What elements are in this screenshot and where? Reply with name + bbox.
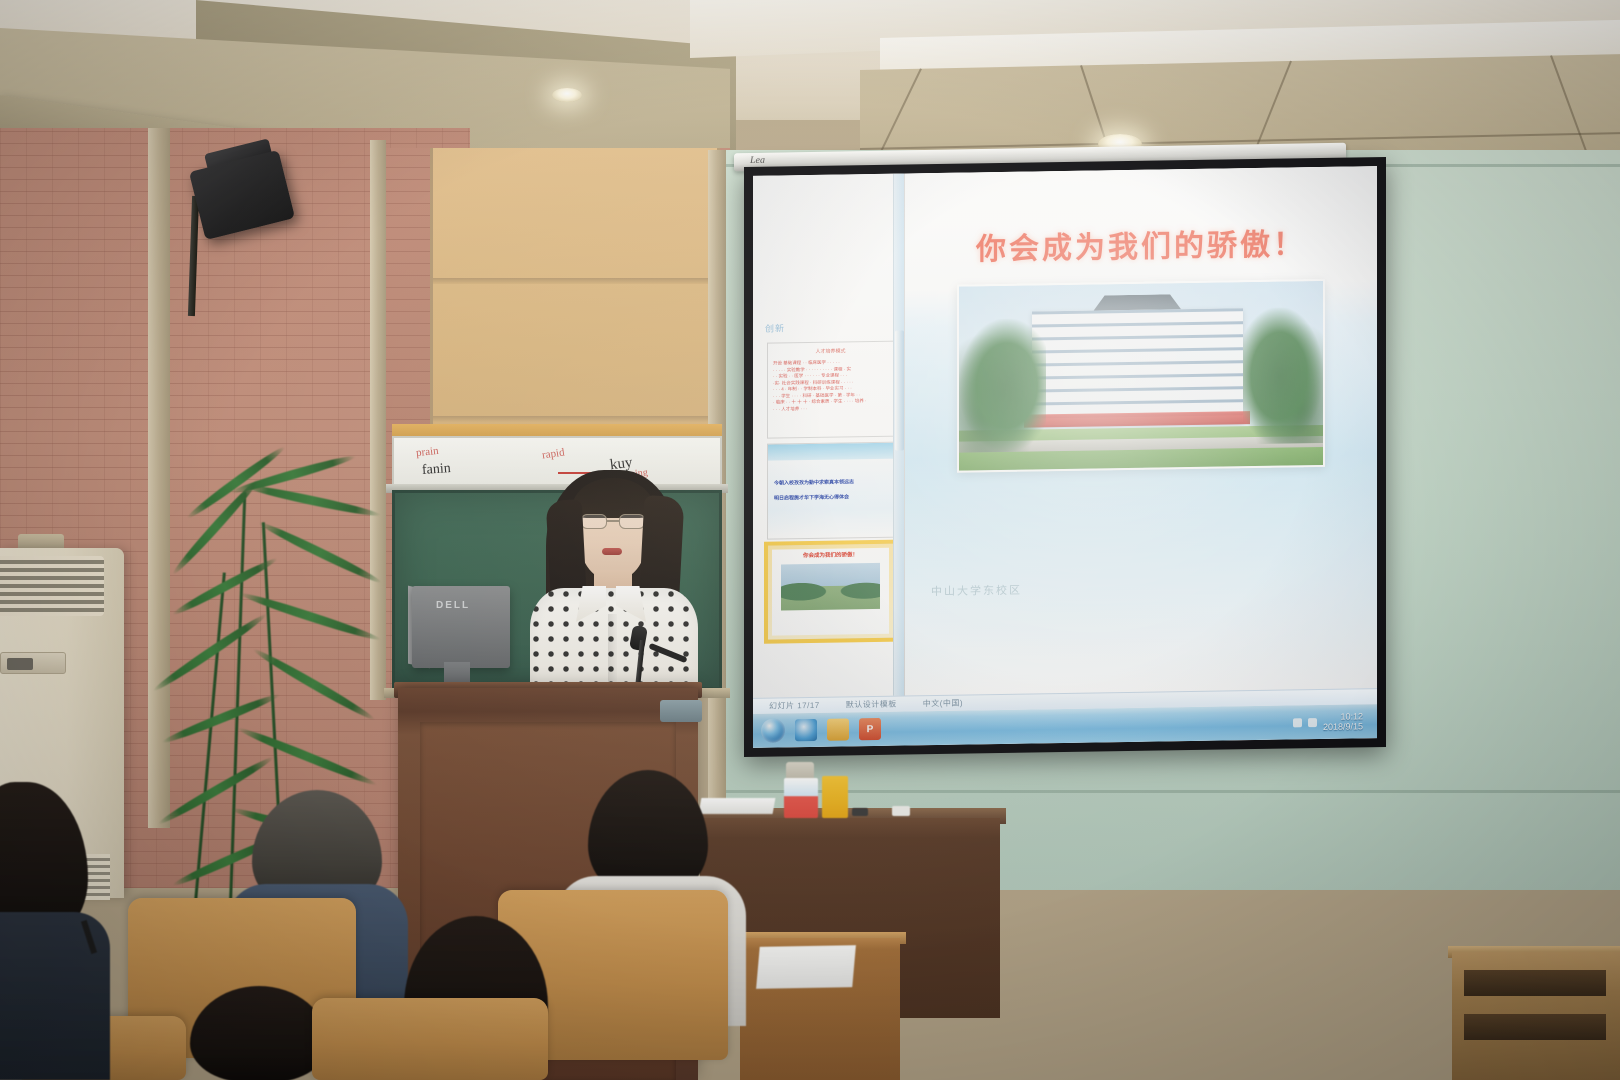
podium-side-shelf: [660, 700, 702, 722]
presenter: [524, 466, 700, 716]
whiteboard-note: rapid: [541, 446, 565, 461]
thumbnail-line: · · · 人才培养 · · ·: [773, 405, 888, 413]
folder-icon[interactable]: [827, 718, 849, 740]
auditorium-chair[interactable]: [312, 998, 548, 1080]
thumbnail-photo: [781, 563, 879, 611]
network-icon[interactable]: [1293, 718, 1302, 727]
current-slide: 你会成为我们的骄傲！: [905, 166, 1377, 695]
scrollbar-thumb[interactable]: [895, 330, 904, 450]
eraser-icon: [892, 806, 910, 816]
thumbnail-line: 明日启程施才华下学海无心得体会: [774, 493, 887, 502]
photo-building: [1032, 308, 1243, 425]
dell-monitor: DELL: [412, 586, 510, 668]
papers-on-table: [699, 798, 776, 814]
slide-stage: 你会成为我们的骄傲！: [905, 166, 1377, 695]
volume-icon[interactable]: [1308, 718, 1317, 727]
screen-brand-label: Lea: [750, 155, 765, 166]
system-tray[interactable]: 10:12 2018/9/15: [1293, 711, 1369, 733]
ceiling-light-3: [552, 88, 582, 102]
slide-counter: 幻灯片 17/17: [769, 700, 820, 712]
powerpoint-icon[interactable]: P: [859, 718, 881, 740]
taskbar-clock[interactable]: 10:12 2018/9/15: [1323, 711, 1363, 732]
thumbnail-header-band: [768, 443, 893, 461]
ac-control-panel[interactable]: [0, 652, 66, 674]
language-label: 中文(中国): [923, 698, 963, 710]
presenter-lips: [602, 548, 622, 555]
slide-title: 你会成为我们的骄傲！: [976, 219, 1306, 268]
tissue-box-icon: [784, 778, 818, 818]
audience-torso: [0, 912, 110, 1080]
monitor-brand-label: DELL: [436, 600, 470, 611]
whiteboard-note: prain: [415, 445, 439, 459]
clock-date: 2018/9/15: [1323, 721, 1363, 732]
powerpoint-window: 创新 人才培养模式 开设 基础课程 · · 临床医学 · · · · · · ·…: [753, 166, 1377, 748]
ac-upper-grille: [0, 556, 104, 616]
right-cabinet: [1452, 952, 1620, 1080]
ac-display: [7, 658, 33, 670]
lecture-hall-photo: Lea 创新 人才培养模式 开设 基础课程 · · 临床医学 · · · · ·…: [0, 0, 1620, 1080]
projection-screen: 创新 人才培养模式 开设 基础课程 · · 临床医学 · · · · · · ·…: [744, 157, 1386, 757]
whiteboard-note: fanin: [421, 461, 451, 479]
thumbnail-panel-header: 创新: [753, 174, 904, 339]
thumbnail-scrollbar[interactable]: [893, 174, 904, 696]
list-item[interactable]: 今朝入校孜孜为勤中求索真本领远志 明日启程施才华下学海无心得体会: [767, 442, 894, 540]
thumbnail-title: 你会成为我们的骄傲！: [772, 552, 889, 562]
slide-thumbnail-panel[interactable]: 创新 人才培养模式 开设 基础课程 · · 临床医学 · · · · · · ·…: [753, 174, 905, 698]
photo-tree-right: [1243, 307, 1323, 444]
glasses-icon: [580, 514, 646, 529]
thumbnail-line: 今朝入校孜孜为勤中求索真本领远志: [774, 479, 887, 488]
slide-footer: 中山大学东校区: [931, 582, 1022, 599]
cabinet-slot: [1464, 970, 1606, 996]
start-orb-icon[interactable]: [761, 718, 785, 742]
internet-explorer-icon[interactable]: [795, 719, 817, 741]
snack-box-icon: [822, 776, 848, 818]
list-item-selected[interactable]: 你会成为我们的骄傲！: [767, 543, 894, 641]
water-bottle: [1399, 910, 1424, 996]
remote-control-icon: [852, 808, 868, 816]
clock-time: 10:12: [1323, 711, 1363, 722]
slide-photo-building: [957, 279, 1325, 473]
thumbnail-title: 人才培养模式: [773, 348, 888, 357]
list-item[interactable]: 人才培养模式 开设 基础课程 · · 临床医学 · · · · · · · · …: [767, 341, 894, 439]
photo-tree-left: [959, 318, 1046, 452]
cabinet-slot: [1464, 1014, 1606, 1040]
desk-items: [780, 770, 890, 818]
design-template-label: 默认设计模板: [846, 699, 897, 711]
water-bottle: [768, 868, 796, 964]
